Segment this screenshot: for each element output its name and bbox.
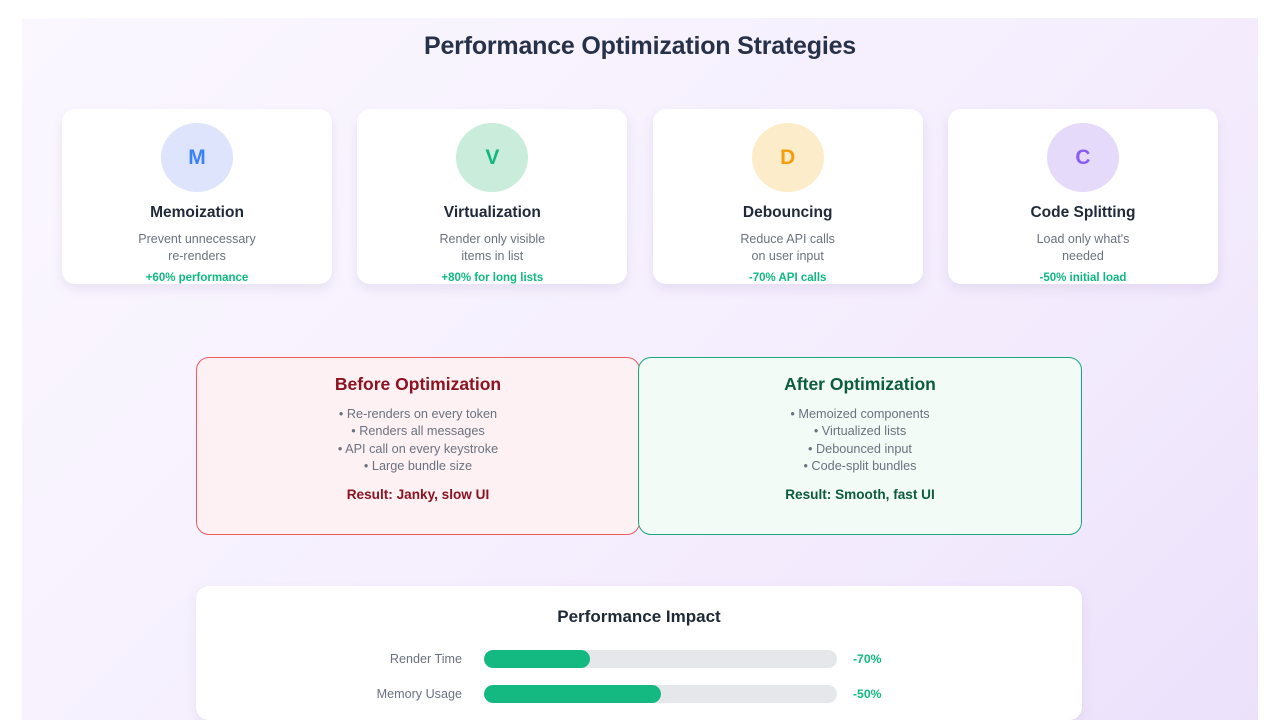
strategy-card-description-line2: needed	[1037, 248, 1130, 265]
metric-progress-fill	[484, 650, 590, 668]
content-stage: Performance Optimization Strategies M Me…	[22, 18, 1258, 720]
strategy-badge-icon: M	[161, 123, 233, 192]
strategy-card-description: Load only what's needed	[1037, 231, 1130, 265]
performance-metric-list: Render Time -70% Memory Usage -50%	[196, 641, 1082, 720]
strategy-card-description-line1: Reduce API calls	[740, 231, 835, 248]
metric-row-partially-visible	[196, 711, 1082, 720]
page-title: Performance Optimization Strategies	[22, 32, 1258, 61]
strategy-card-memoization[interactable]: M Memoization Prevent unnecessary re-ren…	[62, 109, 332, 284]
metric-row-memory-usage: Memory Usage -50%	[196, 676, 1082, 711]
strategy-card-metric: -70% API calls	[749, 272, 827, 284]
metric-progress-track	[484, 650, 837, 668]
strategy-card-title: Code Splitting	[1030, 204, 1135, 222]
strategy-card-description-line1: Load only what's	[1037, 231, 1130, 248]
strategy-badge-icon: C	[1047, 123, 1119, 192]
strategy-card-description-line1: Render only visible	[440, 231, 546, 248]
strategy-badge-icon: D	[752, 123, 824, 192]
strategy-card-code-splitting[interactable]: C Code Splitting Load only what's needed…	[948, 109, 1218, 284]
metric-value: -70%	[837, 652, 881, 666]
strategy-card-description: Reduce API calls on user input	[740, 231, 835, 265]
strategy-card-description: Render only visible items in list	[440, 231, 546, 265]
strategy-card-metric: +60% performance	[146, 272, 249, 284]
before-panel-result: Result: Janky, slow UI	[197, 487, 639, 502]
list-item: • API call on every keystroke	[197, 441, 639, 458]
strategy-card-debouncing[interactable]: D Debouncing Reduce API calls on user in…	[653, 109, 923, 284]
before-optimization-panel: Before Optimization • Re-renders on ever…	[196, 357, 640, 535]
metric-progress-fill	[484, 685, 661, 703]
after-optimization-panel: After Optimization • Memoized components…	[638, 357, 1082, 535]
metric-progress-track	[484, 685, 837, 703]
strategy-card-virtualization[interactable]: V Virtualization Render only visible ite…	[357, 109, 627, 284]
strategy-card-description: Prevent unnecessary re-renders	[138, 231, 255, 265]
after-panel-result: Result: Smooth, fast UI	[639, 487, 1081, 502]
metric-value: -50%	[837, 687, 881, 701]
list-item: • Memoized components	[639, 406, 1081, 423]
strategy-card-title: Virtualization	[444, 204, 541, 222]
list-item: • Code-split bundles	[639, 458, 1081, 475]
strategy-card-metric: -50% initial load	[1040, 272, 1127, 284]
performance-impact-panel: Performance Impact Render Time -70% Memo…	[196, 586, 1082, 720]
strategy-card-title: Debouncing	[743, 204, 833, 222]
before-panel-list: • Re-renders on every token • Renders al…	[197, 406, 639, 475]
metric-label: Memory Usage	[196, 687, 484, 701]
page-root: Performance Optimization Strategies M Me…	[0, 0, 1279, 720]
before-panel-title: Before Optimization	[197, 374, 639, 395]
strategy-card-title: Memoization	[150, 204, 244, 222]
strategy-card-description-line2: re-renders	[138, 248, 255, 265]
list-item: • Debounced input	[639, 441, 1081, 458]
performance-impact-title: Performance Impact	[196, 607, 1082, 627]
list-item: • Renders all messages	[197, 423, 639, 440]
list-item: • Virtualized lists	[639, 423, 1081, 440]
after-panel-title: After Optimization	[639, 374, 1081, 395]
after-panel-list: • Memoized components • Virtualized list…	[639, 406, 1081, 475]
strategy-card-metric: +80% for long lists	[441, 272, 543, 284]
metric-label: Render Time	[196, 652, 484, 666]
strategy-card-description-line2: items in list	[440, 248, 546, 265]
metric-row-render-time: Render Time -70%	[196, 641, 1082, 676]
list-item: • Large bundle size	[197, 458, 639, 475]
strategy-card-description-line1: Prevent unnecessary	[138, 231, 255, 248]
list-item: • Re-renders on every token	[197, 406, 639, 423]
strategy-cards-row: M Memoization Prevent unnecessary re-ren…	[62, 109, 1218, 284]
comparison-row: Before Optimization • Re-renders on ever…	[196, 357, 1082, 535]
strategy-badge-icon: V	[456, 123, 528, 192]
strategy-card-description-line2: on user input	[740, 248, 835, 265]
